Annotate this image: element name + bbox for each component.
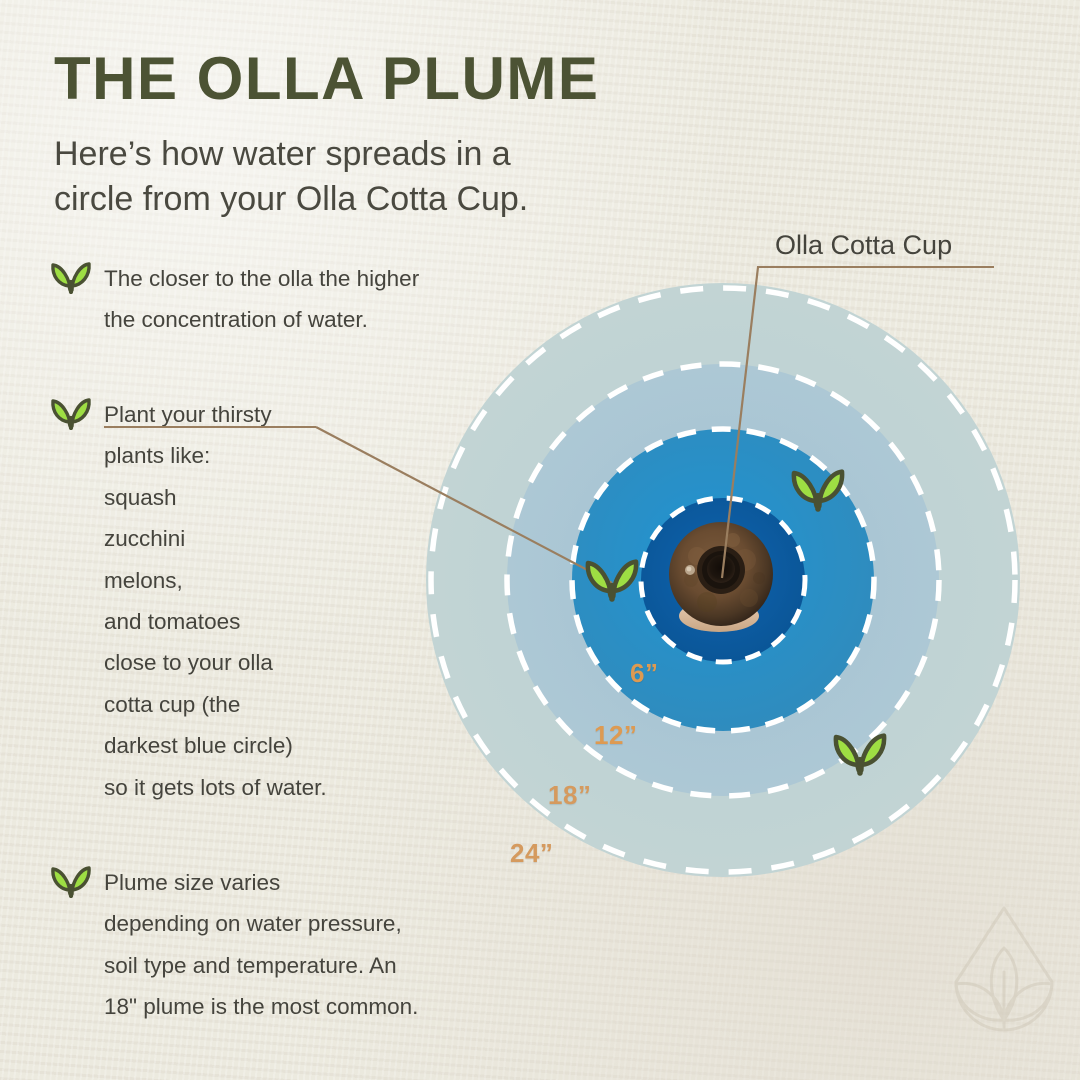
bullet-line: melons, <box>104 560 327 601</box>
plants-callout-underline <box>104 426 316 428</box>
brand-watermark-logo <box>944 902 1064 1034</box>
bullet-item-thirsty-plants: Plant your thirsty plants like: squash z… <box>50 394 380 808</box>
bullet-line: Plume size varies <box>104 862 418 903</box>
bullet-text: Plant your thirsty plants like: squash z… <box>104 394 327 808</box>
ring-label-18: 18” <box>548 780 591 811</box>
bullet-text: Plume size varies depending on water pre… <box>104 862 418 1028</box>
page-title: THE OLLA PLUME <box>54 48 599 109</box>
bullet-line: darkest blue circle) <box>104 725 327 766</box>
sprout-icon <box>50 396 92 430</box>
bullet-line: and tomatoes <box>104 601 327 642</box>
bullet-line: cotta cup (the <box>104 684 327 725</box>
infographic-canvas: THE OLLA PLUME Here’s how water spreads … <box>0 0 1080 1080</box>
bullet-item-plume-size: Plume size varies depending on water pre… <box>50 862 510 1028</box>
ring-label-6: 6” <box>630 658 658 689</box>
bullet-line: soil type and temperature. An <box>104 945 418 986</box>
ring-label-24: 24” <box>510 838 553 869</box>
bullet-line: plants like: <box>104 435 327 476</box>
olla-cotta-cup-label: Olla Cotta Cup <box>775 230 952 261</box>
bullet-line: depending on water pressure, <box>104 903 418 944</box>
bullet-line: close to your olla <box>104 642 327 683</box>
sprout-icon <box>50 864 92 898</box>
bullet-line: 18" plume is the most common. <box>104 986 418 1027</box>
sprout-icon <box>50 260 92 294</box>
bullet-line: the concentration of water. <box>104 299 419 340</box>
bullet-line: squash <box>104 477 327 518</box>
subtitle-line-2: circle from your Olla Cotta Cup. <box>54 180 528 218</box>
bullet-item-concentration: The closer to the olla the higher the co… <box>50 258 520 341</box>
olla-cotta-cup-photo <box>663 518 783 638</box>
subtitle-line-1: Here’s how water spreads in a <box>54 135 511 173</box>
olla-bead-highlight <box>687 567 692 572</box>
bullet-line: so it gets lots of water. <box>104 767 327 808</box>
olla-callout-underline <box>757 266 994 268</box>
bullet-line: Plant your thirsty <box>104 394 327 435</box>
bullet-text: The closer to the olla the higher the co… <box>104 258 419 341</box>
ring-label-12: 12” <box>594 720 637 751</box>
diagram-sprout-icon-upper-right <box>790 466 846 512</box>
diagram-sprout-icon-inner <box>584 556 640 602</box>
page-subtitle: Here’s how water spreads in a circle fro… <box>54 132 674 222</box>
bullet-line: zucchini <box>104 518 327 559</box>
diagram-sprout-icon-lower-right <box>832 730 888 776</box>
bullet-line: The closer to the olla the higher <box>104 258 419 299</box>
olla-opening <box>707 555 735 583</box>
